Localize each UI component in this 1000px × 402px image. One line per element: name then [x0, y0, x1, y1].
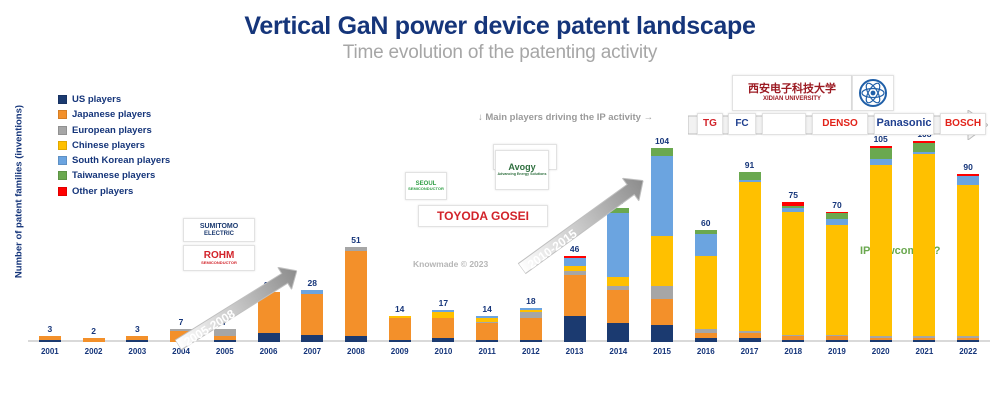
x-axis-tick-label: 2016 [697, 347, 715, 356]
atom-seal-icon [858, 78, 888, 108]
bar-segment [957, 185, 979, 336]
seoul-semiconductor-logo: SEOULSEMICONDUCTOR [405, 172, 447, 200]
x-axis-tick-label: 2002 [85, 347, 103, 356]
tg-logo: TG [697, 113, 723, 135]
bar-segment [607, 290, 629, 324]
bar-segment [476, 340, 498, 342]
x-axis-tick-label: 2017 [741, 347, 759, 356]
x-axis-tick-label: 2020 [872, 347, 890, 356]
xidian-university-logo: 西安电子科技大学XIDIAN UNIVERSITY [732, 75, 852, 111]
bar-segment [695, 234, 717, 256]
bosch-logo: BOSCH [940, 113, 986, 135]
bar-segment [826, 225, 848, 335]
panasonic-logo: Panasonic [874, 113, 934, 135]
bar-segment [739, 172, 761, 179]
bar-column[interactable]: 602016 [695, 230, 717, 342]
seoul-semiconductor-logo-line2: SEMICONDUCTOR [408, 187, 444, 191]
bar-segment [739, 338, 761, 342]
sumitomo-electric-logo: SUMITOMOELECTRIC [183, 218, 255, 242]
x-axis-tick-label: 2019 [828, 347, 846, 356]
x-axis-tick-label: 2015 [653, 347, 671, 356]
bar-segment [301, 335, 323, 342]
bar-value-label: 60 [701, 218, 710, 228]
bar-segment [607, 277, 629, 286]
fc-logo-line1: FC [735, 119, 748, 130]
bar-value-label: 3 [47, 324, 52, 334]
sumitomo-electric-logo-line2: ELECTRIC [204, 231, 234, 237]
bar-segment [607, 213, 629, 276]
bar-segment [782, 212, 804, 335]
bar-value-label: 75 [788, 190, 797, 200]
xidian-university-logo-line1: 西安电子科技大学 [748, 84, 836, 96]
bar-segment [826, 340, 848, 342]
bar-value-label: 104 [655, 136, 669, 146]
bar-segment [214, 340, 236, 342]
bar-segment [126, 340, 148, 342]
bar-segment [651, 325, 673, 342]
bar-column[interactable]: 512008 [345, 247, 367, 342]
x-axis-tick-label: 2008 [347, 347, 365, 356]
bar-segment [301, 294, 323, 335]
bar-column[interactable]: 902022 [957, 174, 979, 342]
bar-column[interactable]: 182012 [520, 308, 542, 342]
bar-segment [651, 299, 673, 325]
avogy-logo: AvogyAdvancing Energy Solutions [495, 150, 549, 190]
bar-column[interactable]: 702019 [826, 212, 848, 342]
bar-segment [913, 143, 935, 152]
legend-item-japanese: Japanese players [58, 109, 170, 120]
bar-segment [739, 182, 761, 331]
bar-segment [651, 236, 673, 286]
bar-segment [345, 336, 367, 342]
x-axis-tick-label: 2012 [522, 347, 540, 356]
y-axis-label: Number of patent families (inventions) [14, 77, 25, 307]
legend-label-us: US players [72, 94, 121, 105]
toyoda-gosei-logo-line1: TOYODA GOSEI [437, 210, 529, 223]
bar-segment [564, 258, 586, 265]
bar-value-label: 70 [832, 200, 841, 210]
bar-value-label: 90 [963, 162, 972, 172]
x-axis-tick-label: 2010 [435, 347, 453, 356]
x-axis-tick-label: 2007 [303, 347, 321, 356]
bar-value-label: 3 [135, 324, 140, 334]
denso-logo-line1: DENSO [822, 119, 858, 130]
bar-segment [476, 323, 498, 340]
xidian-university-logo-line2: XIDIAN UNIVERSITY [763, 96, 821, 102]
bar-column[interactable]: 32001 [39, 336, 61, 342]
bar-column[interactable]: 32003 [126, 336, 148, 342]
bar-value-label: 14 [482, 304, 491, 314]
bar-column[interactable]: 1052020 [870, 146, 892, 342]
bar-column[interactable]: 1082021 [913, 141, 935, 342]
bar-segment [957, 340, 979, 342]
tg-logo-line1: TG [703, 119, 717, 130]
bar-value-label: 28 [307, 278, 316, 288]
fc-logo: FC [728, 113, 756, 135]
bar-segment [389, 318, 411, 340]
bar-segment [870, 340, 892, 342]
bar-segment [83, 338, 105, 342]
bar-segment [870, 148, 892, 159]
bar-column[interactable]: 752018 [782, 202, 804, 342]
bar-segment [39, 340, 61, 342]
bar-segment [389, 340, 411, 342]
legend-item-us: US players [58, 94, 170, 105]
x-axis-tick-label: 2014 [609, 347, 627, 356]
bar-segment [258, 333, 280, 342]
x-axis-tick-label: 2011 [478, 347, 495, 356]
bar-segment [957, 176, 979, 185]
page-subtitle: Time evolution of the patenting activity [0, 42, 1000, 64]
bar-segment [564, 316, 586, 342]
x-axis-tick-label: 2006 [260, 347, 278, 356]
bar-column[interactable]: 912017 [739, 172, 761, 342]
x-axis-tick-label: 2013 [566, 347, 584, 356]
institute-seal-logo [852, 75, 894, 111]
bar-value-label: 17 [439, 298, 448, 308]
bar-value-label: 14 [395, 304, 404, 314]
bosch-logo-line1: BOSCH [945, 119, 981, 130]
bar-segment [520, 340, 542, 342]
toyota-logo [762, 113, 806, 135]
bar-segment [695, 338, 717, 342]
bar-value-label: 2 [91, 326, 96, 336]
bar-segment [651, 156, 673, 236]
denso-logo: DENSO [812, 113, 868, 135]
sumitomo-electric-logo-line1: SUMITOMO [200, 223, 238, 230]
bar-segment [651, 148, 673, 155]
rohm-logo: ROHMSEMICONDUCTOR [183, 245, 255, 271]
rohm-logo-line2: SEMICONDUCTOR [201, 261, 237, 265]
bar-segment [651, 286, 673, 299]
x-axis-tick-label: 2003 [128, 347, 146, 356]
bar-column[interactable]: 142009 [389, 316, 411, 342]
bar-segment [607, 323, 629, 342]
x-axis-tick-label: 2009 [391, 347, 409, 356]
toyoda-gosei-logo: TOYODA GOSEI [418, 205, 548, 227]
bar-column[interactable]: 22002 [83, 338, 105, 342]
x-axis-tick-label: 2001 [41, 347, 59, 356]
x-axis-tick-label: 2005 [216, 347, 234, 356]
bar-value-label: 51 [351, 235, 360, 245]
bar-value-label: 91 [745, 160, 754, 170]
legend-swatch-japanese [58, 110, 67, 119]
bar-segment [870, 165, 892, 336]
bar-segment [913, 340, 935, 342]
bar-column[interactable]: 1042015 [651, 148, 673, 342]
bar-segment [432, 318, 454, 339]
bar-column[interactable]: 282007 [301, 290, 323, 342]
bar-column[interactable]: 722014 [607, 208, 629, 342]
legend-swatch-us [58, 95, 67, 104]
bar-column[interactable]: 172010 [432, 310, 454, 342]
bar-segment [432, 338, 454, 342]
panasonic-logo-line1: Panasonic [876, 118, 931, 130]
x-axis-tick-label: 2018 [784, 347, 802, 356]
bar-segment [782, 340, 804, 342]
x-axis-tick-label: 2021 [916, 347, 934, 356]
bar-segment [564, 275, 586, 316]
bar-column[interactable]: 462013 [564, 256, 586, 342]
bar-segment [345, 251, 367, 337]
bar-segment [913, 154, 935, 337]
x-axis-tick-label: 2022 [959, 347, 977, 356]
bar-segment [520, 318, 542, 340]
bar-column[interactable]: 142011 [476, 316, 498, 342]
bar-value-label: 18 [526, 296, 535, 306]
legend-label-japanese: Japanese players [72, 109, 151, 120]
avogy-logo-line2: Advancing Energy Solutions [498, 173, 547, 177]
bar-segment [695, 256, 717, 329]
page-title: Vertical GaN power device patent landsca… [0, 12, 1000, 41]
